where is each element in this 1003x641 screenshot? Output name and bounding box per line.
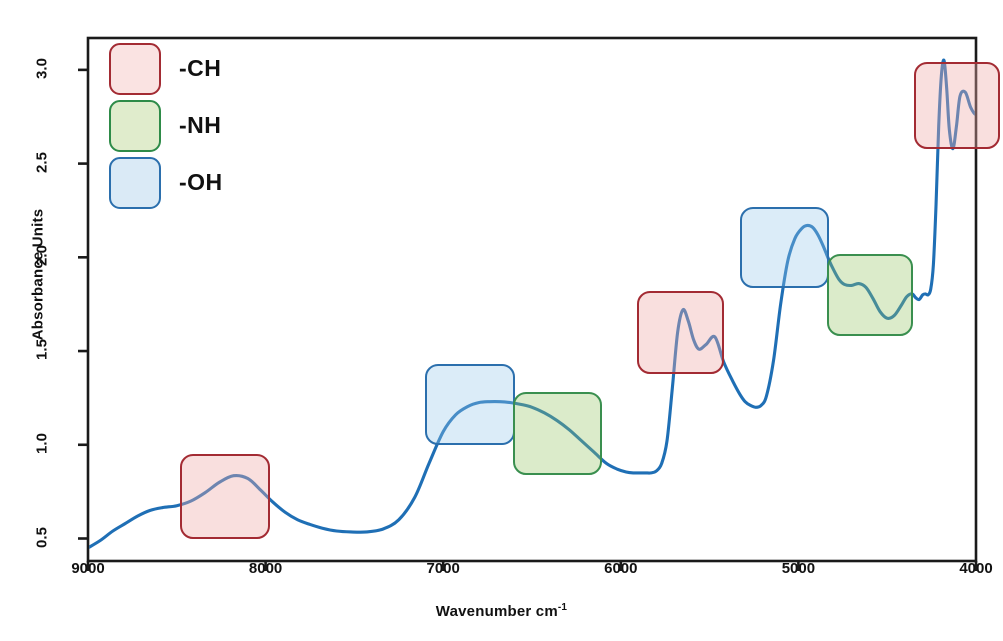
legend: -CH-NH-OH: [109, 40, 223, 211]
highlight-box-nh-3: [513, 392, 601, 475]
highlight-box-ch-7: [914, 62, 1001, 148]
highlight-box-oh-2: [425, 364, 514, 445]
highlight-box-oh-5: [740, 207, 829, 288]
nir-spectrum-figure: Absorbance Units Wavenumber cm-1 0.51.01…: [0, 0, 1003, 641]
legend-label-oh: -OH: [179, 169, 223, 196]
legend-item-nh: -NH: [109, 97, 223, 154]
highlight-box-nh-6: [827, 254, 914, 337]
legend-label-ch: -CH: [179, 55, 221, 82]
highlight-box-ch-4: [637, 291, 724, 374]
legend-swatch-nh-icon: [109, 100, 161, 152]
legend-swatch-ch-icon: [109, 43, 161, 95]
legend-label-nh: -NH: [179, 112, 221, 139]
highlight-box-ch-1: [180, 454, 270, 539]
legend-swatch-oh-icon: [109, 157, 161, 209]
legend-item-ch: -CH: [109, 40, 223, 97]
legend-item-oh: -OH: [109, 154, 223, 211]
